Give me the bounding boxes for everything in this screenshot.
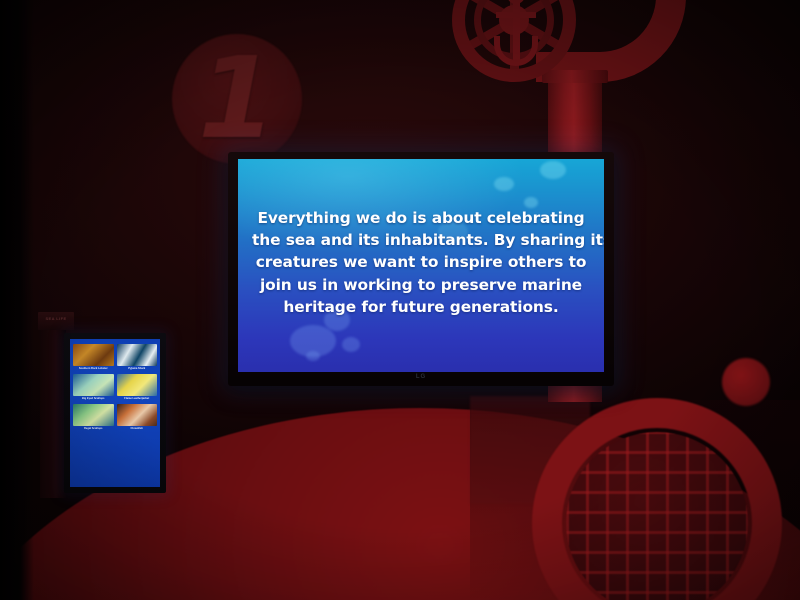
species-card[interactable]: Southern Rock Lobster <box>73 344 114 371</box>
rivet-icon <box>722 358 770 406</box>
species-thumbnail <box>117 344 158 366</box>
message-line: Everything we do is about celebrating <box>252 207 590 229</box>
bubble-icon <box>540 161 566 179</box>
porthole-grille-icon <box>532 398 782 600</box>
anchor-icon <box>494 0 538 76</box>
tv-brand-logo: LG <box>228 374 614 380</box>
wall-left-edge-shadow <box>0 0 34 600</box>
kiosk-stand <box>40 330 66 498</box>
species-thumbnail <box>73 344 114 366</box>
species-kiosk-display[interactable]: Southern Rock Lobster Pyjama Shark Big E… <box>64 333 166 493</box>
zone-number-label: 1 <box>172 34 302 164</box>
message-line: the sea and its inhabitants. By sharing … <box>252 229 590 251</box>
porthole-ring <box>532 398 782 600</box>
species-caption: Southern Rock Lobster <box>73 366 114 371</box>
main-display-message: Everything we do is about celebrating th… <box>238 207 604 318</box>
anchor-fluke <box>494 36 538 66</box>
message-line: join us in working to preserve marine <box>252 274 590 296</box>
species-card[interactable]: Regal Scallops <box>73 404 114 431</box>
bubble-icon <box>494 177 514 191</box>
species-thumbnail <box>117 404 158 426</box>
species-caption: Flame Leatherjacket <box>117 396 158 401</box>
species-thumbnail <box>73 374 114 396</box>
kiosk-plaque <box>38 312 74 330</box>
exhibit-scene: 1 Everything we do is ab <box>0 0 800 600</box>
species-caption: Big Eyed Scallops <box>73 396 114 401</box>
species-card[interactable]: Pyjama Shark <box>117 344 158 371</box>
anchor-stock <box>496 12 536 18</box>
species-caption: Clownfish <box>117 426 158 431</box>
species-thumbnail <box>117 374 158 396</box>
species-card[interactable]: Flame Leatherjacket <box>117 374 158 401</box>
main-display-screen: Everything we do is about celebrating th… <box>238 159 604 372</box>
bubble-icon <box>342 337 360 352</box>
species-caption: Regal Scallops <box>73 426 114 431</box>
species-caption: Pyjama Shark <box>117 366 158 371</box>
main-display-tv[interactable]: Everything we do is about celebrating th… <box>228 152 614 386</box>
species-grid: Southern Rock Lobster Pyjama Shark Big E… <box>73 344 157 431</box>
bubble-icon <box>306 351 320 361</box>
message-line: heritage for future generations. <box>252 296 590 318</box>
kiosk-screen: Southern Rock Lobster Pyjama Shark Big E… <box>70 339 160 487</box>
species-card[interactable]: Big Eyed Scallops <box>73 374 114 401</box>
species-thumbnail <box>73 404 114 426</box>
species-card[interactable]: Clownfish <box>117 404 158 431</box>
kiosk-plaque-label: SEA LIFE <box>38 316 74 321</box>
message-line: creatures we want to inspire others to <box>252 251 590 273</box>
